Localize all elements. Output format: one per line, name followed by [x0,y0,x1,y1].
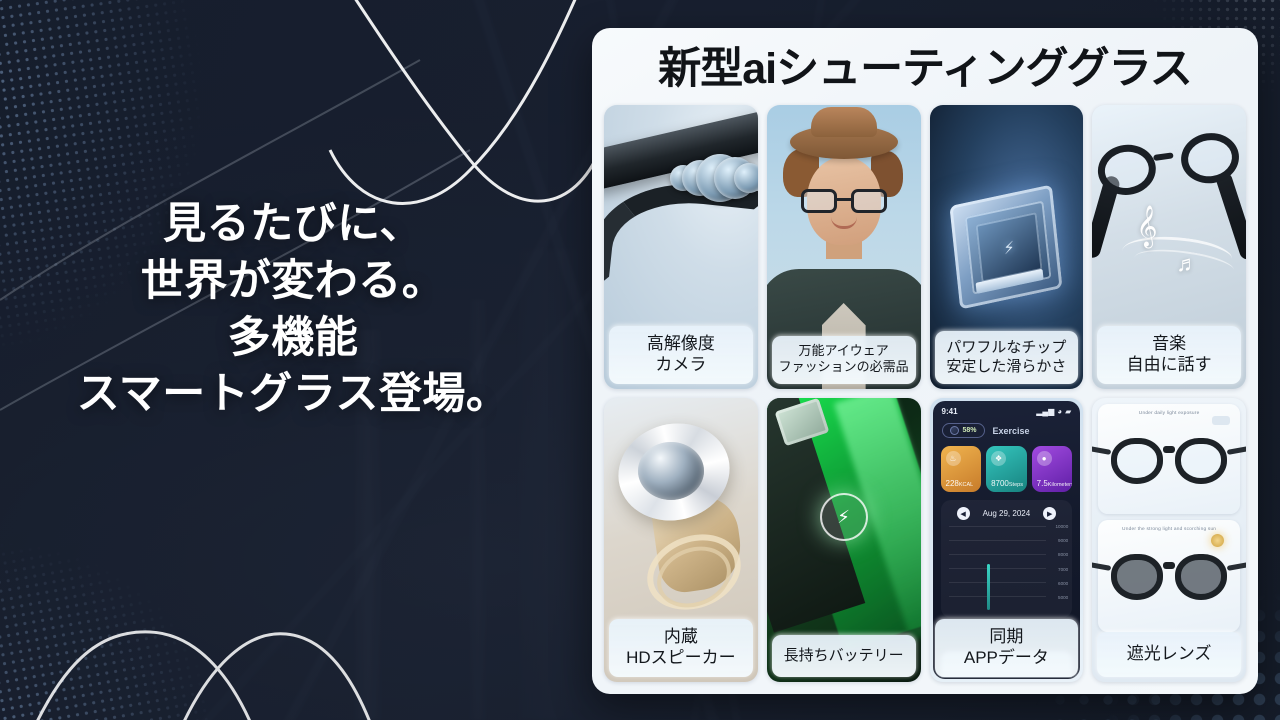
camera-lens-stack-icon [670,143,758,213]
chart-bar [987,564,990,610]
feature-card-label: 同期 APPデータ [935,619,1079,678]
promo-banner: 見るたびに、 世界が変わる。 多機能 スマートグラス登場。 新型aiシューティン… [0,0,1280,720]
glasses-clear-lenses [1107,438,1231,488]
feature-card-powerful-chip[interactable]: ⚡ パワフルなチップ 安定した滑らかさ [930,105,1084,389]
feature-grid: 高解像度 カメラ [604,105,1246,682]
device-battery-pill[interactable]: 58% [942,423,985,438]
metric-tiles: ♨ 228KCAL ❖ 8700Steps [933,438,1081,492]
shoe-icon: ❖ [991,451,1006,466]
headline-line-4: スマートグラス登場。 [0,366,586,423]
feature-card-label: 音楽 自由に話す [1097,326,1241,385]
person-hat-crown [811,107,877,137]
lens-state-tinted-panel: Under the strong light and scorching sun [1098,520,1240,632]
feature-card-label: 高解像度 カメラ [609,326,753,385]
feature-card-long-lasting-battery[interactable]: ⚡ 長持ちバッテリー [767,398,921,682]
phone-header-row: 58% Exercise [933,416,1081,438]
chip-outer-shell: ⚡ [950,184,1063,309]
next-day-button[interactable]: ▶ [1043,507,1056,520]
feature-card-label: 万能アイウェア ファッションの必需品 [772,336,916,384]
headline-line-1: 見るたびに、 [0,196,586,253]
feature-card-label: パワフルなチップ 安定した滑らかさ [935,331,1079,384]
headline-line-3: 多機能 [0,310,586,367]
sun-icon [1211,534,1224,547]
prev-day-button[interactable]: ◀ [957,507,970,520]
status-time: 9:41 [942,407,958,416]
glasses-tinted-lenses [1107,554,1231,604]
feature-card-high-resolution-camera[interactable]: 高解像度 カメラ [604,105,758,389]
pin-icon: ● [1037,451,1052,466]
headline: 見るたびに、 世界が変わる。 多機能 スマートグラス登場。 [0,196,586,423]
feature-card-versatile-eyewear[interactable]: 万能アイウェア ファッションの必需品 [767,105,921,389]
device-icon [950,426,959,435]
feature-card-light-blocking-lenses[interactable]: Under daily light exposure Under the str… [1092,398,1246,682]
headline-line-2: 世界が変わる。 [0,253,586,310]
flame-icon: ♨ [946,451,961,466]
charging-bolt-icon: ⚡ [820,493,868,541]
lens-tinted-caption: Under the strong light and scorching sun [1098,527,1240,532]
current-date: Aug 29, 2024 [983,509,1031,518]
phone-status-bar: 9:41 ▂▄▆ ◕ ▰ [933,401,1081,416]
date-navigator: ◀ Aug 29, 2024 ▶ [947,507,1067,520]
section-title: Exercise [993,426,1030,436]
feature-card-label: 内蔵 HDスピーカー [609,619,753,678]
device-battery-value: 58% [963,427,977,434]
panel-title: 新型aiシューティンググラス [604,42,1246,105]
status-icon-group: ▂▄▆ ◕ ▰ [1036,407,1071,416]
feature-card-music-and-calls[interactable]: 𝄞 ♬ 音楽 自由に話す [1092,105,1246,389]
speaker-dome [638,442,704,500]
lightning-bolt-icon: ⚡ [1003,237,1016,259]
signal-icon: ▂▄▆ [1036,407,1054,416]
metric-tile-distance[interactable]: ● 7.5Kilometers [1032,446,1073,492]
lens-state-clear-panel: Under daily light exposure [1098,404,1240,514]
activity-chart-panel: ◀ Aug 29, 2024 ▶ 10000 9000 [941,500,1073,618]
wifi-icon: ◕ [1057,407,1062,416]
metric-value: 228KCAL [946,479,974,488]
metric-value: 8700Steps [991,479,1023,488]
feature-card-label: 遮光レンズ [1097,632,1241,677]
battery-icon: ▰ [1065,407,1071,416]
metric-tile-steps[interactable]: ❖ 8700Steps [986,446,1027,492]
feature-card-built-in-hd-speaker[interactable]: 内蔵 HDスピーカー [604,398,758,682]
uv-badge [1212,416,1230,425]
chart-gridlines [949,526,1047,598]
feature-panel: 新型aiシューティンググラス 高解像度 カメラ [592,28,1258,694]
person-eyeglasses-icon [801,189,887,213]
metric-tile-calories[interactable]: ♨ 228KCAL [941,446,982,492]
feature-card-app-data-sync[interactable]: 9:41 ▂▄▆ ◕ ▰ 58% E [930,398,1084,682]
chart-y-axis-labels: 10000 9000 8000 7000 6000 5000 [1055,524,1068,600]
feature-card-label: 長持ちバッテリー [772,635,916,677]
metric-value: 7.5Kilometers [1037,479,1073,488]
